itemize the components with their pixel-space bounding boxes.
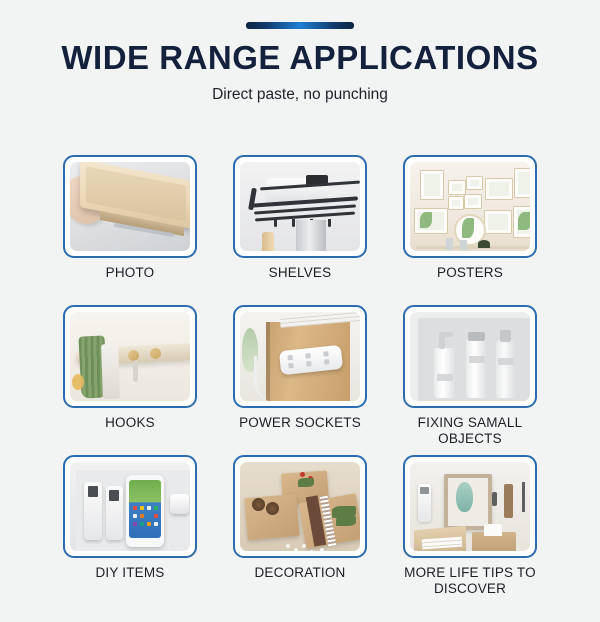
card-photo[interactable] xyxy=(63,155,197,258)
grid-item-fixing-small-objects[interactable]: FIXING SAMALL OBJECTS xyxy=(403,305,537,455)
card-posters[interactable] xyxy=(403,155,537,258)
shelves-thumbnail xyxy=(240,162,360,251)
card-hooks[interactable] xyxy=(63,305,197,408)
card-more-life-tips[interactable] xyxy=(403,455,537,558)
grid-item-power-sockets[interactable]: POWER SOCKETS xyxy=(233,305,367,455)
card-shelves[interactable] xyxy=(233,155,367,258)
decoration-thumbnail xyxy=(240,462,360,551)
card-power-sockets[interactable] xyxy=(233,305,367,408)
grid-item-diy-items[interactable]: DIY ITEMS xyxy=(63,455,197,605)
posters-thumbnail xyxy=(410,162,530,251)
card-decoration[interactable] xyxy=(233,455,367,558)
card-label-more-life-tips: MORE LIFE TIPS TO DISCOVER xyxy=(403,565,537,596)
grid-item-hooks[interactable]: HOOKS xyxy=(63,305,197,455)
grid-item-decoration[interactable]: DECORATION xyxy=(233,455,367,605)
fixing-small-objects-thumbnail xyxy=(410,312,530,401)
card-diy-items[interactable] xyxy=(63,455,197,558)
card-label-shelves: SHELVES xyxy=(269,265,332,281)
grid-item-posters[interactable]: POSTERS xyxy=(403,155,537,305)
more-life-tips-thumbnail xyxy=(410,462,530,551)
card-label-posters: POSTERS xyxy=(437,265,503,281)
page-title: WIDE RANGE APPLICATIONS xyxy=(0,41,600,76)
card-label-hooks: HOOKS xyxy=(105,415,155,431)
photo-thumbnail xyxy=(70,162,190,251)
card-label-diy-items: DIY ITEMS xyxy=(95,565,164,581)
card-label-fixing-small-objects: FIXING SAMALL OBJECTS xyxy=(403,415,537,446)
grid-item-more-life-tips[interactable]: MORE LIFE TIPS TO DISCOVER xyxy=(403,455,537,605)
card-label-power-sockets: POWER SOCKETS xyxy=(239,415,361,431)
applications-grid: PHOTO SHELVES xyxy=(63,155,537,605)
hooks-thumbnail xyxy=(70,312,190,401)
card-fixing-small-objects[interactable] xyxy=(403,305,537,408)
diy-items-thumbnail xyxy=(70,462,190,551)
card-label-decoration: DECORATION xyxy=(254,565,345,581)
applications-page: WIDE RANGE APPLICATIONS Direct paste, no… xyxy=(0,22,600,622)
power-sockets-thumbnail xyxy=(240,312,360,401)
accent-bar-icon xyxy=(246,22,354,29)
grid-item-photo[interactable]: PHOTO xyxy=(63,155,197,305)
page-subtitle: Direct paste, no punching xyxy=(0,86,600,104)
card-label-photo: PHOTO xyxy=(106,265,155,281)
grid-item-shelves[interactable]: SHELVES xyxy=(233,155,367,305)
